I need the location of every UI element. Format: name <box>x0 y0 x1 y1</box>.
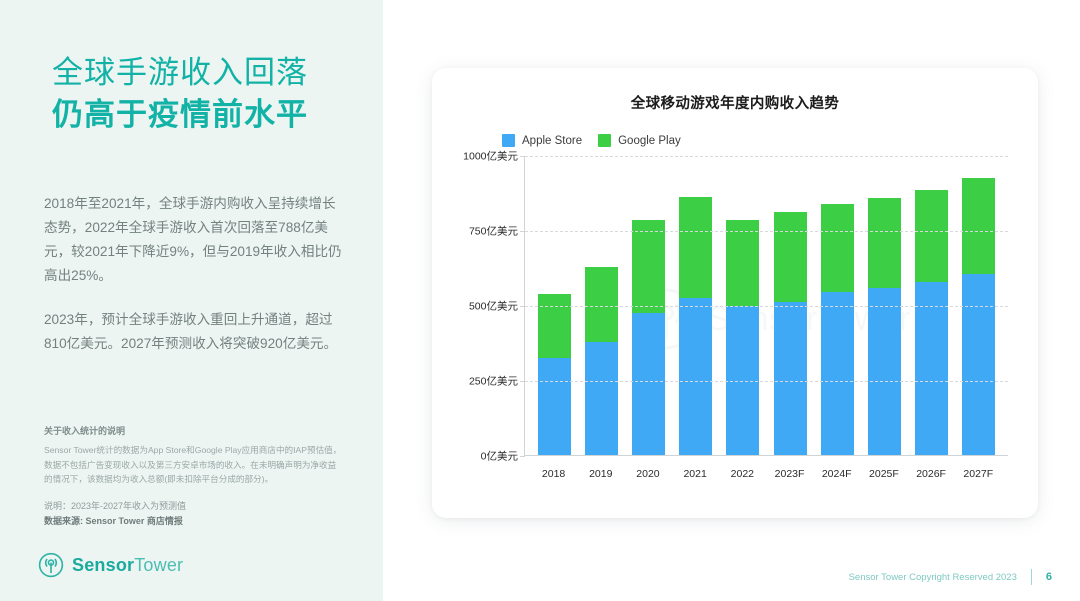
legend-label: Google Play <box>618 135 681 147</box>
y-axis-tick-label: 1000亿美元 <box>463 149 518 164</box>
footer-copyright: Sensor Tower Copyright Reserved 2023 <box>849 572 1017 583</box>
footer-page-number: 6 <box>1046 571 1052 583</box>
chart-title: 全球移动游戏年度内购收入趋势 <box>432 92 1038 113</box>
chart-card: 全球移动游戏年度内购收入趋势 Apple StoreGoogle Play 0亿… <box>432 68 1038 518</box>
y-axis-labels: 0亿美元250亿美元500亿美元750亿美元1000亿美元 <box>456 156 524 456</box>
legend-swatch-icon <box>598 134 611 147</box>
notes-source: 数据来源: Sensor Tower 商店情报 <box>44 514 344 529</box>
legend-label: Apple Store <box>522 135 582 147</box>
y-axis-tick-label: 250亿美元 <box>469 374 518 389</box>
logo-word-bold: Sensor <box>72 555 134 575</box>
bar-segment-google-play[interactable] <box>962 178 995 273</box>
x-axis-labels: 201820192020202120222023F2024F2025F2026F… <box>524 458 1008 486</box>
y-axis-tick-label: 500亿美元 <box>469 299 518 314</box>
gridline <box>525 306 1008 307</box>
x-axis-tick-label: 2021 <box>679 458 712 486</box>
notes-explain: 说明：2023年-2027年收入为预测值 <box>44 499 344 514</box>
bar-segment-apple-store[interactable] <box>962 274 995 455</box>
plot-canvas: SensorTower <box>524 156 1008 456</box>
headline-line-2: 仍高于疫情前水平 <box>52 94 352 136</box>
x-axis-tick-label: 2019 <box>584 458 617 486</box>
bar-segment-apple-store[interactable] <box>538 358 571 455</box>
bar-segment-google-play[interactable] <box>538 294 571 359</box>
bar-segment-apple-store[interactable] <box>868 288 901 455</box>
x-axis-tick-label: 2025F <box>867 458 900 486</box>
notes-block: 关于收入统计的说明 Sensor Tower统计的数据为App Store和Go… <box>44 424 344 529</box>
plot-area: 0亿美元250亿美元500亿美元750亿美元1000亿美元 SensorTowe… <box>456 156 1014 486</box>
bar-segment-google-play[interactable] <box>585 267 618 342</box>
y-axis-tick-label: 750亿美元 <box>469 224 518 239</box>
headline-line-1: 全球手游收入回落 <box>52 52 352 94</box>
y-axis-tick <box>520 306 525 307</box>
bar-segment-google-play[interactable] <box>821 204 854 293</box>
x-axis-tick-label: 2026F <box>915 458 948 486</box>
logo-word-light: Tower <box>134 555 183 575</box>
footer-divider <box>1031 569 1032 585</box>
bar-segment-apple-store[interactable] <box>915 282 948 455</box>
x-axis-tick-label: 2027F <box>962 458 995 486</box>
y-axis-tick <box>520 381 525 382</box>
y-axis-tick <box>520 156 525 157</box>
sensor-tower-logo: SensorTower <box>38 552 183 578</box>
notes-title: 关于收入统计的说明 <box>44 424 344 438</box>
bar-segment-apple-store[interactable] <box>774 302 807 455</box>
page-footer: Sensor Tower Copyright Reserved 2023 6 <box>849 569 1052 585</box>
body-copy: 2018年至2021年，全球手游内购收入呈持续增长态势，2022年全球手游收入首… <box>44 192 344 376</box>
body-paragraph-1: 2018年至2021年，全球手游内购收入呈持续增长态势，2022年全球手游收入首… <box>44 192 344 288</box>
bar-segment-google-play[interactable] <box>868 198 901 288</box>
legend-item-2[interactable]: Google Play <box>598 134 681 147</box>
body-paragraph-2: 2023年，预计全球手游收入重回上升通道，超过810亿美元。2027年预测收入将… <box>44 308 344 356</box>
x-axis-tick-label: 2022 <box>726 458 759 486</box>
headline-block: 全球手游收入回落 仍高于疫情前水平 <box>52 52 352 136</box>
gridline <box>525 231 1008 232</box>
bar-segment-google-play[interactable] <box>679 197 712 298</box>
left-panel: 全球手游收入回落 仍高于疫情前水平 2018年至2021年，全球手游内购收入呈持… <box>0 0 383 601</box>
x-axis-tick-label: 2018 <box>537 458 570 486</box>
chart-legend: Apple StoreGoogle Play <box>502 134 681 147</box>
x-axis-tick-label: 2024F <box>820 458 853 486</box>
sensor-tower-mark-icon <box>38 552 64 578</box>
bar-segment-apple-store[interactable] <box>632 313 665 455</box>
legend-item-1[interactable]: Apple Store <box>502 134 582 147</box>
y-axis-tick <box>520 456 525 457</box>
x-axis-tick-label: 2023F <box>773 458 806 486</box>
gridline <box>525 381 1008 382</box>
bar-segment-google-play[interactable] <box>632 220 665 313</box>
x-axis-tick-label: 2020 <box>631 458 664 486</box>
y-axis-tick <box>520 231 525 232</box>
notes-body: Sensor Tower统计的数据为App Store和Google Play应… <box>44 443 344 487</box>
bar-segment-apple-store[interactable] <box>679 298 712 455</box>
bar-segment-apple-store[interactable] <box>585 342 618 455</box>
bar-segment-google-play[interactable] <box>915 190 948 282</box>
y-axis-tick-label: 0亿美元 <box>481 449 518 464</box>
bar-segment-apple-store[interactable] <box>821 292 854 455</box>
bar-segment-google-play[interactable] <box>774 212 807 302</box>
logo-wordmark: SensorTower <box>72 555 183 576</box>
bar-segment-google-play[interactable] <box>726 220 759 306</box>
gridline <box>525 156 1008 157</box>
legend-swatch-icon <box>502 134 515 147</box>
slide-page: 全球手游收入回落 仍高于疫情前水平 2018年至2021年，全球手游内购收入呈持… <box>0 0 1080 601</box>
